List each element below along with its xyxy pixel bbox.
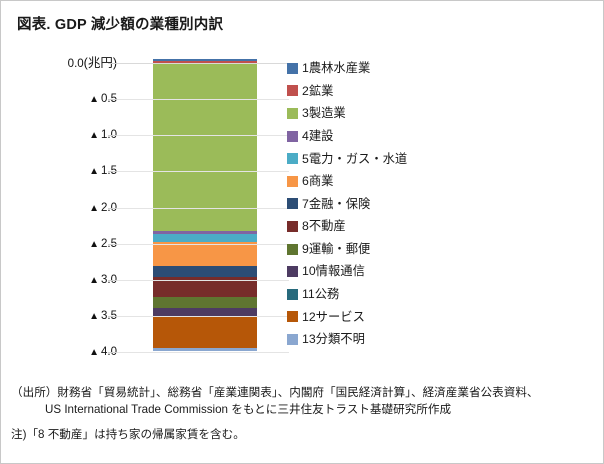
legend-item[interactable]: 7金融・保険 xyxy=(287,193,487,216)
gridline xyxy=(117,352,289,353)
y-tick-mark xyxy=(108,208,117,209)
y-tick-mark xyxy=(108,135,117,136)
legend-item[interactable]: 4建設 xyxy=(287,125,487,148)
legend-item-label: 7金融・保険 xyxy=(302,198,370,210)
legend-item-label: 3製造業 xyxy=(302,107,346,119)
y-tick-mark xyxy=(108,352,117,353)
legend-item-label: 6商業 xyxy=(302,175,333,187)
y-tick-mark xyxy=(108,316,117,317)
legend-swatch-icon xyxy=(287,266,298,277)
legend-item[interactable]: 9運輸・郵便 xyxy=(287,238,487,261)
legend-swatch-icon xyxy=(287,221,298,232)
y-tick-mark xyxy=(108,244,117,245)
chart-page: 図表. GDP 減少額の業種別内訳 0.0(兆円)▲0.5▲1.0▲1.5▲2.… xyxy=(0,0,604,464)
gridline xyxy=(117,280,289,281)
bar-segment[interactable] xyxy=(153,316,257,348)
bar-segment[interactable] xyxy=(153,63,257,231)
y-axis-labels: 0.0(兆円)▲0.5▲1.0▲1.5▲2.0▲2.5▲3.0▲3.5▲4.0 xyxy=(41,51,117,371)
legend-item-label: 5電力・ガス・水道 xyxy=(302,153,407,165)
legend-swatch-icon xyxy=(287,108,298,119)
legend-item[interactable]: 10情報通信 xyxy=(287,260,487,283)
gridline xyxy=(117,244,289,245)
bar-segment[interactable] xyxy=(153,242,257,266)
bar-segment[interactable] xyxy=(153,234,257,242)
legend-swatch-icon xyxy=(287,176,298,187)
bar-segment[interactable] xyxy=(153,308,257,316)
y-tick-mark xyxy=(108,63,117,64)
y-tick-mark xyxy=(108,280,117,281)
gridline xyxy=(117,208,289,209)
legend-item-label: 12サービス xyxy=(302,311,365,323)
bar-segment[interactable] xyxy=(153,348,257,351)
source-line-1: （出所）財務省「貿易統計」、総務省「産業連関表」、内閣府「国民経済計算」、経済産… xyxy=(11,386,539,399)
chart-legend: 1農林水産業2鉱業3製造業4建設5電力・ガス・水道6商業7金融・保険8不動産9運… xyxy=(287,57,487,351)
gridline xyxy=(117,63,289,64)
legend-item-label: 10情報通信 xyxy=(302,265,365,277)
legend-item[interactable]: 8不動産 xyxy=(287,215,487,238)
legend-item-label: 2鉱業 xyxy=(302,85,333,97)
plot-area xyxy=(117,63,289,352)
legend-swatch-icon xyxy=(287,289,298,300)
legend-item-label: 9運輸・郵便 xyxy=(302,243,370,255)
legend-item[interactable]: 3製造業 xyxy=(287,102,487,125)
legend-swatch-icon xyxy=(287,198,298,209)
chart-title: 図表. GDP 減少額の業種別内訳 xyxy=(17,13,223,34)
legend-swatch-icon xyxy=(287,311,298,322)
legend-swatch-icon xyxy=(287,244,298,255)
gridline xyxy=(117,171,289,172)
source-note: （出所）財務省「貿易統計」、総務省「産業連関表」、内閣府「国民経済計算」、経済産… xyxy=(11,384,601,418)
legend-item[interactable]: 11公務 xyxy=(287,283,487,306)
y-tick-mark xyxy=(108,171,117,172)
legend-item[interactable]: 12サービス xyxy=(287,306,487,329)
legend-item[interactable]: 5電力・ガス・水道 xyxy=(287,147,487,170)
legend-swatch-icon xyxy=(287,85,298,96)
legend-item[interactable]: 13分類不明 xyxy=(287,328,487,351)
gridline xyxy=(117,99,289,100)
gridline xyxy=(117,316,289,317)
legend-item-label: 8不動産 xyxy=(302,220,346,232)
source-line-2: US International Trade Commission をもとに三井… xyxy=(45,401,601,418)
legend-item[interactable]: 1農林水産業 xyxy=(287,57,487,80)
legend-swatch-icon xyxy=(287,153,298,164)
footnote: 注)「8 不動産」は持ち家の帰属家賃を含む。 xyxy=(11,426,245,443)
legend-item-label: 4建設 xyxy=(302,130,333,142)
stacked-bar[interactable] xyxy=(153,59,257,351)
y-tick-mark xyxy=(108,99,117,100)
legend-item-label: 1農林水産業 xyxy=(302,62,370,74)
legend-swatch-icon xyxy=(287,131,298,142)
legend-item-label: 13分類不明 xyxy=(302,333,365,345)
bar-segment[interactable] xyxy=(153,297,257,308)
legend-swatch-icon xyxy=(287,334,298,345)
legend-item-label: 11公務 xyxy=(302,288,339,300)
legend-item[interactable]: 6商業 xyxy=(287,170,487,193)
legend-swatch-icon xyxy=(287,63,298,74)
gridline xyxy=(117,135,289,136)
bar-segment[interactable] xyxy=(153,266,257,277)
legend-item[interactable]: 2鉱業 xyxy=(287,80,487,103)
